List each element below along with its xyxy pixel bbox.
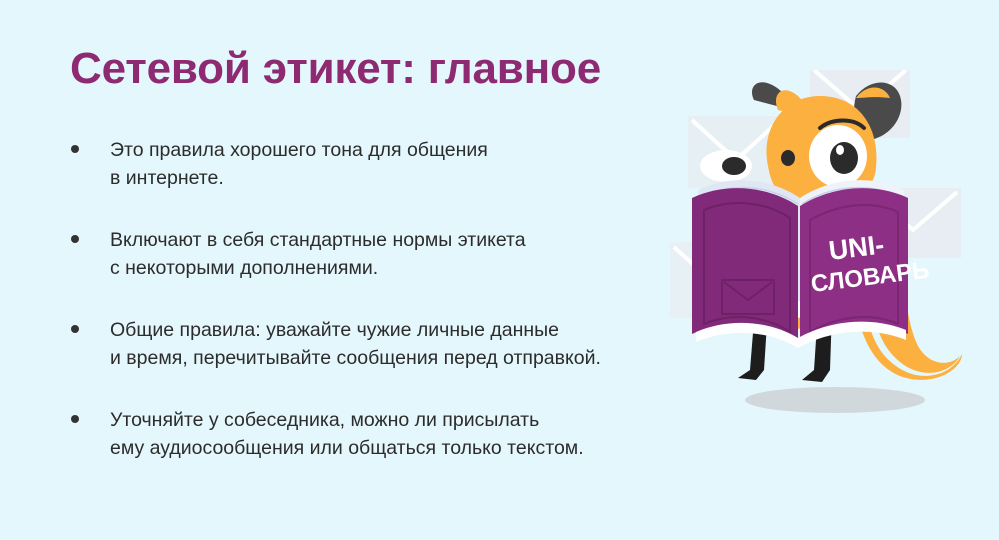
- fox-reading-illustration: UNI- СЛОВАРЬ: [660, 70, 999, 470]
- page-title: Сетевой этикет: главное: [70, 44, 601, 94]
- bullet-dot-icon: [71, 415, 79, 423]
- book-cover-left: [692, 188, 798, 342]
- slide-canvas: Сетевой этикет: главное Это правила хоро…: [0, 0, 999, 540]
- bullet-dot-icon: [71, 145, 79, 153]
- ground-shadow: [745, 387, 925, 413]
- bullet-dot-icon: [71, 235, 79, 243]
- bullet-dot-icon: [71, 325, 79, 333]
